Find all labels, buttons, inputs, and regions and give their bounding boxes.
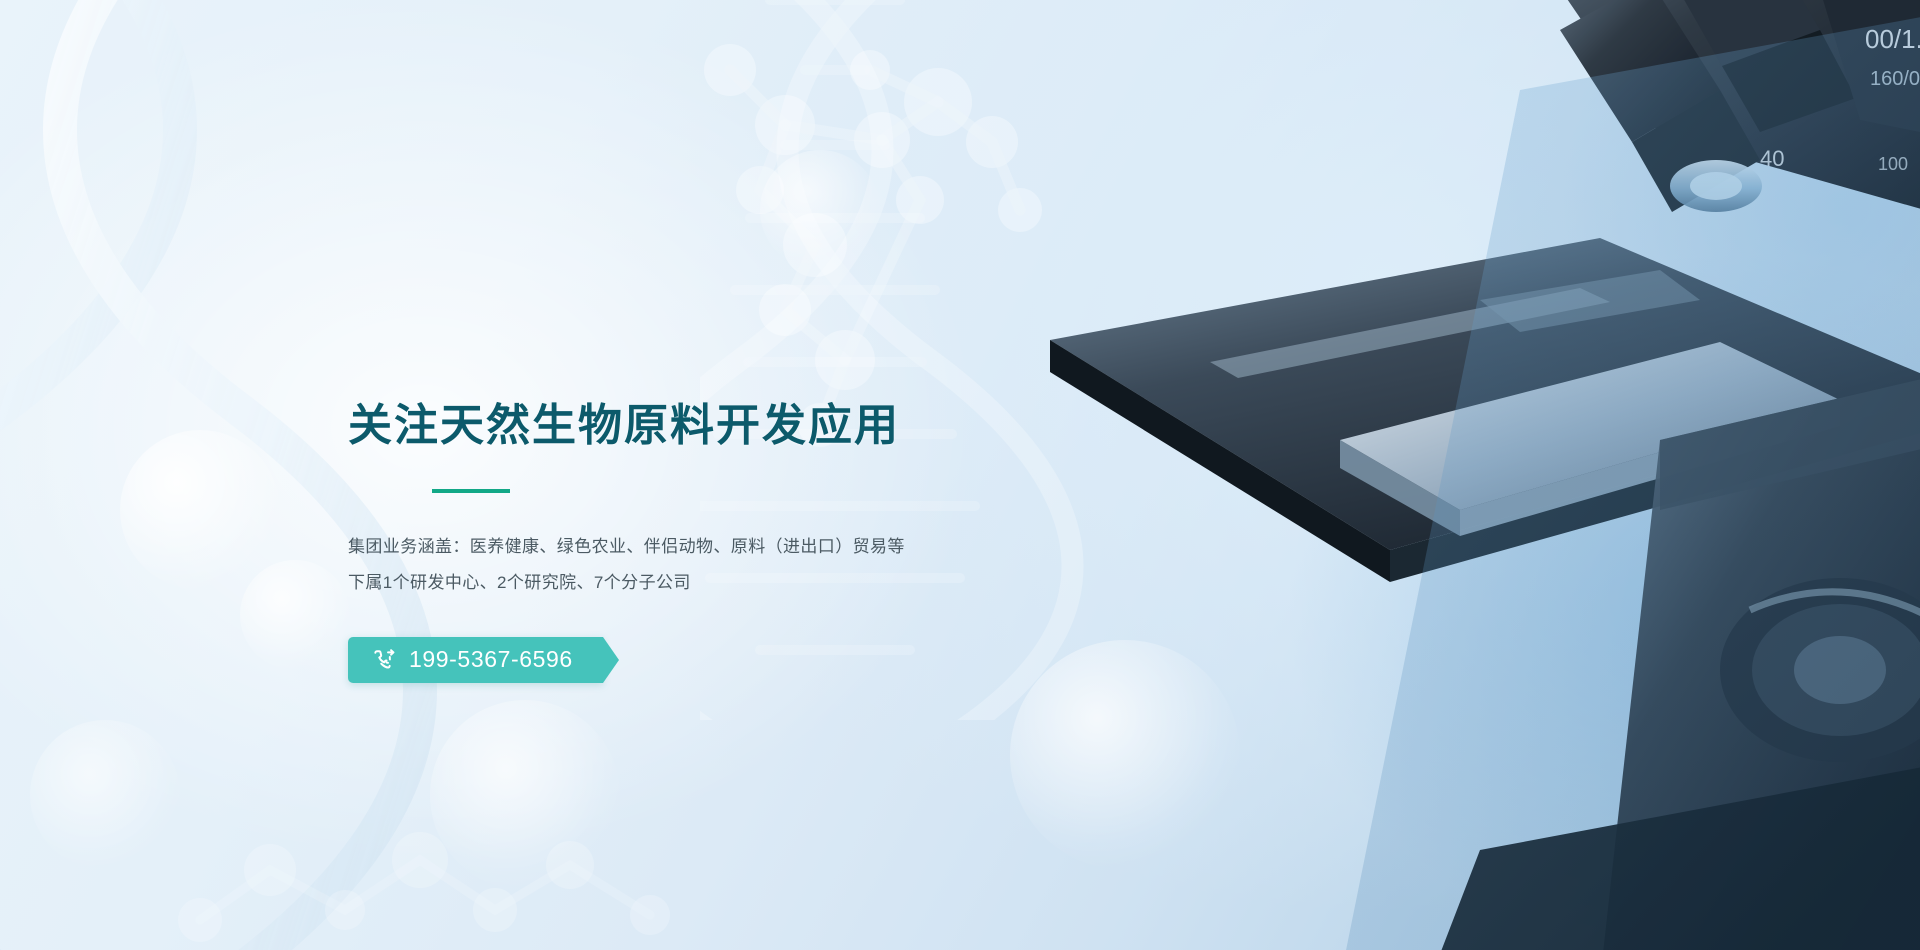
bokeh-light [430, 700, 620, 890]
molecule-cluster-icon [140, 760, 760, 950]
svg-text:160/0.17: 160/0.17 [1870, 68, 1920, 90]
bokeh-light [1230, 360, 1370, 500]
hero-content: 关注天然生物原料开发应用 集团业务涵盖：医养健康、绿色农业、伴侣动物、原料（进出… [348, 398, 1068, 683]
bokeh-light [760, 150, 880, 270]
hero-description: 集团业务涵盖：医养健康、绿色农业、伴侣动物、原料（进出口）贸易等 下属1个研发中… [348, 529, 1068, 601]
svg-text:00/1.25: 00/1.25 [1865, 24, 1920, 54]
microscope-glow [1020, 0, 1920, 950]
microscope-icon: 00/1.25 160/0.17 40 100 [960, 0, 1920, 950]
phone-forward-icon [372, 648, 397, 673]
page-title: 关注天然生物原料开发应用 [348, 398, 1068, 453]
phone-number-label: 199-5367-6596 [409, 648, 573, 673]
bokeh-light [30, 720, 180, 870]
phone-cta-button[interactable]: 199-5367-6596 [348, 637, 603, 683]
bokeh-light [240, 560, 350, 670]
svg-text:40: 40 [1760, 146, 1784, 171]
bokeh-light [120, 430, 280, 590]
title-divider [432, 489, 510, 493]
cta-container: 199-5367-6596 [348, 637, 1068, 683]
description-line-1: 集团业务涵盖：医养健康、绿色农业、伴侣动物、原料（进出口）贸易等 [348, 529, 1068, 565]
svg-text:100: 100 [1878, 154, 1908, 174]
description-line-2: 下属1个研发中心、2个研究院、7个分子公司 [348, 565, 1068, 601]
hero-banner: 00/1.25 160/0.17 40 100 [0, 0, 1920, 950]
